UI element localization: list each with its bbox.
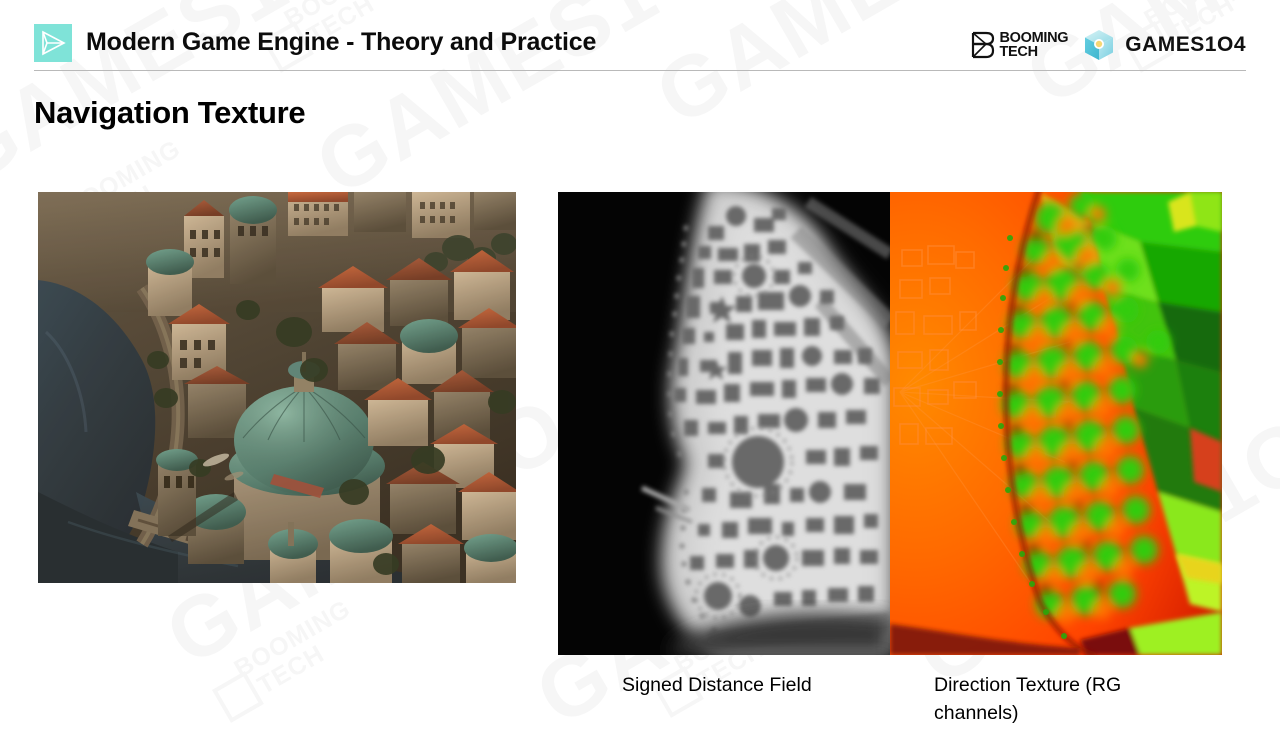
caption-direction-texture: Direction Texture (RG channels) (934, 671, 1194, 728)
games104-logo: GAMES1O4 (1082, 28, 1246, 62)
games104-wordmark: GAMES1O4 (1125, 33, 1246, 57)
watermark-booming-mark-icon (212, 671, 264, 723)
booming-wordmark-line1: BOOMING (1000, 31, 1069, 46)
slide-header: Modern Game Engine - Theory and Practice… (0, 0, 1280, 71)
page-title: Navigation Texture (34, 95, 305, 131)
hex-cube-icon (1082, 28, 1116, 62)
direction-texture (890, 192, 1222, 655)
watermark-booming-line1: BOOMING (230, 595, 356, 684)
city-render-screenshot (38, 192, 516, 583)
booming-tech-logo: BOOMING TECH (970, 31, 1069, 60)
brand-cluster: BOOMING TECH (970, 28, 1247, 62)
header-divider (34, 70, 1246, 71)
booming-wordmark-line2: TECH (1000, 45, 1069, 60)
booming-b-icon (970, 31, 996, 59)
header-title: Modern Game Engine - Theory and Practice (86, 28, 596, 57)
caption-signed-distance-field: Signed Distance Field (622, 671, 812, 699)
watermark-booming-tech: BOOMING TECH (230, 595, 368, 705)
watermark-booming-line2: TECH (243, 618, 368, 705)
booming-tech-wordmark: BOOMING TECH (1000, 31, 1069, 60)
engine-logo-icon (34, 24, 72, 62)
signed-distance-field-texture (558, 192, 890, 655)
